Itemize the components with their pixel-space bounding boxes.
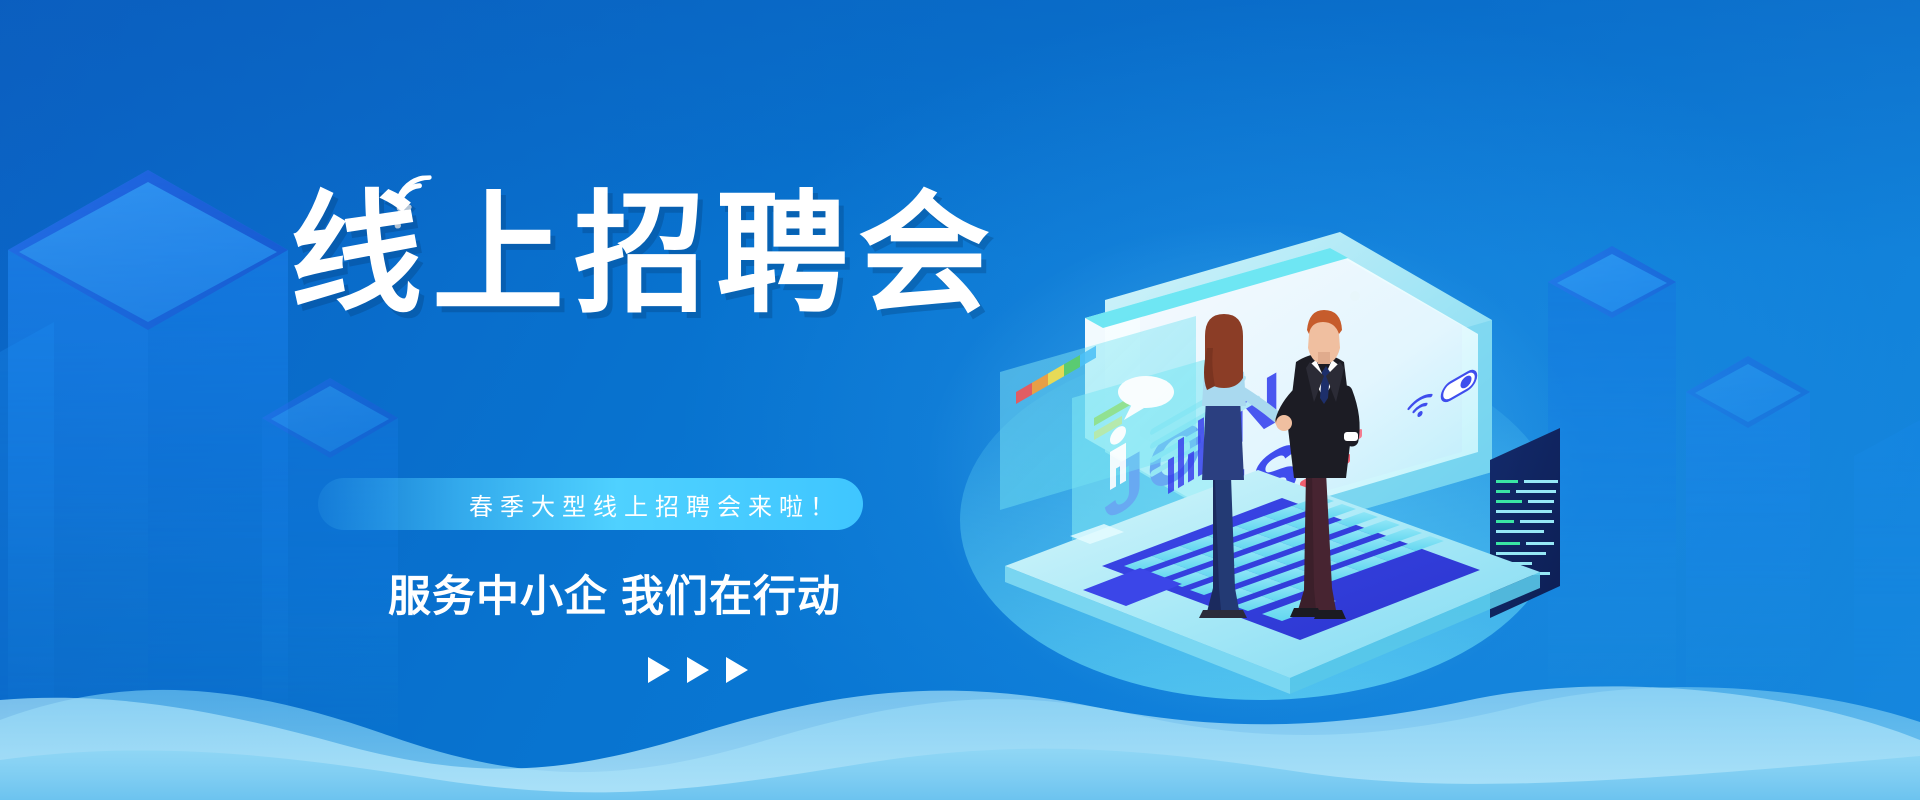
online-job-fair-banner: JOIN US [0,0,1920,800]
page-title: 线上招聘会 [290,176,1090,336]
subtitle-pill-label: 春季大型线上招聘会来啦！ [462,487,841,522]
play-arrow-icon [648,657,670,683]
play-arrow-icon [687,657,709,683]
wave-decoration [0,0,1920,800]
subtitle-pill: 春季大型线上招聘会来啦！ [318,478,863,530]
arrow-indicator-group [648,657,748,683]
tagline: 服务中小企 我们在行动 [388,562,841,624]
play-arrow-icon [726,657,748,683]
